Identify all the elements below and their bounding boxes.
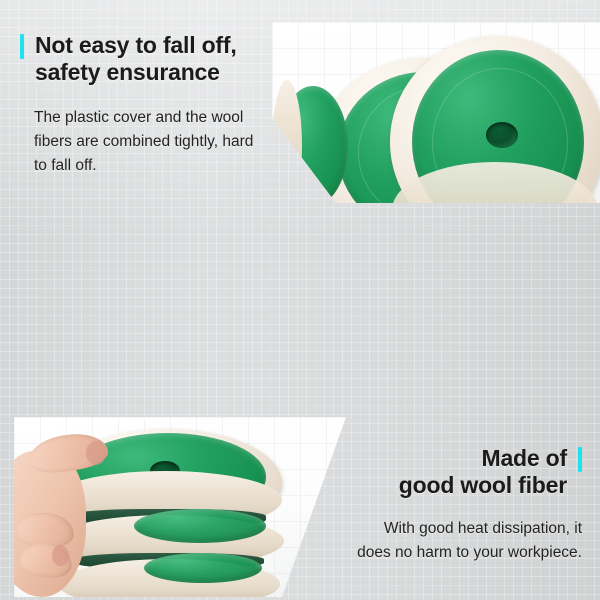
infographic-canvas: Not easy to fall off, safety ensurance T…: [0, 0, 600, 600]
panel-not-easy-to-fall-off: Not easy to fall off, safety ensurance T…: [0, 0, 600, 205]
accent-bar-icon: [20, 34, 24, 59]
panel-1-heading-text: Not easy to fall off, safety ensurance: [35, 32, 237, 85]
panel-1-body: The plastic cover and the wool fibers ar…: [34, 106, 320, 178]
text-block-panel-1: Not easy to fall off, safety ensurance T…: [20, 32, 320, 178]
panel-1-heading: Not easy to fall off, safety ensurance: [20, 32, 320, 85]
product-photo-two-discs: [272, 22, 600, 203]
panel-made-of-good-wool-fiber: Made of good wool fiber With good heat d…: [0, 205, 600, 397]
panel-thickened-design: Thickened design High resilience, high s…: [0, 397, 600, 600]
